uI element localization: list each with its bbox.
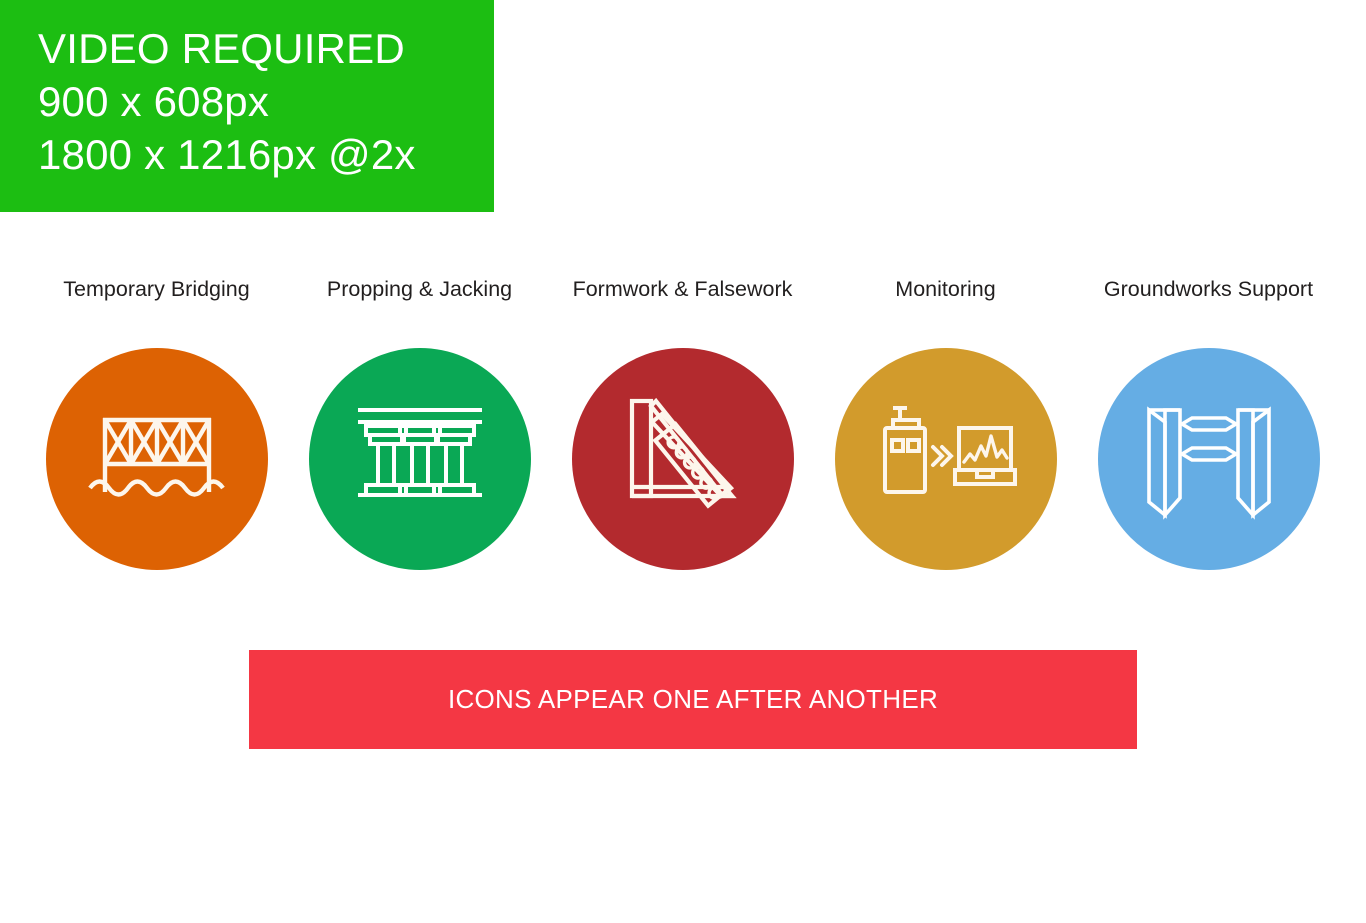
service-circle-temporary-bridging[interactable]: [46, 348, 268, 570]
service-item-monitoring[interactable]: Monitoring: [814, 276, 1077, 570]
sensor-laptop-icon: [871, 384, 1021, 534]
service-label-monitoring: Monitoring: [895, 276, 995, 302]
service-label-groundworks-support: Groundworks Support: [1104, 276, 1313, 302]
truss-bridge-icon: [82, 384, 232, 534]
annotation-banner: ICONS APPEAR ONE AFTER ANOTHER: [249, 650, 1137, 749]
service-circle-monitoring[interactable]: [835, 348, 1057, 570]
props-columns-icon: [345, 384, 495, 534]
service-circle-formwork-falsework[interactable]: [572, 348, 794, 570]
video-required-placeholder: VIDEO REQUIRED 900 x 608px 1800 x 1216px…: [0, 0, 494, 212]
sheet-pile-strut-icon: [1134, 384, 1284, 534]
service-icon-row: Temporary Bridging: [0, 276, 1366, 570]
service-item-temporary-bridging[interactable]: Temporary Bridging: [25, 276, 288, 570]
service-item-groundworks-support[interactable]: Groundworks Support: [1077, 276, 1340, 570]
raking-shore-icon: [608, 384, 758, 534]
annotation-banner-text: ICONS APPEAR ONE AFTER ANOTHER: [448, 684, 938, 715]
service-circle-groundworks-support[interactable]: [1098, 348, 1320, 570]
service-label-formwork-falsework: Formwork & Falsework: [573, 276, 793, 302]
video-placeholder-dimensions-2x: 1800 x 1216px @2x: [38, 128, 494, 181]
service-label-temporary-bridging: Temporary Bridging: [63, 276, 249, 302]
video-placeholder-title: VIDEO REQUIRED: [38, 22, 494, 75]
video-placeholder-dimensions-1x: 900 x 608px: [38, 75, 494, 128]
service-circle-propping-jacking[interactable]: [309, 348, 531, 570]
service-item-formwork-falsework[interactable]: Formwork & Falsework: [551, 276, 814, 570]
service-label-propping-jacking: Propping & Jacking: [327, 276, 512, 302]
service-item-propping-jacking[interactable]: Propping & Jacking: [288, 276, 551, 570]
